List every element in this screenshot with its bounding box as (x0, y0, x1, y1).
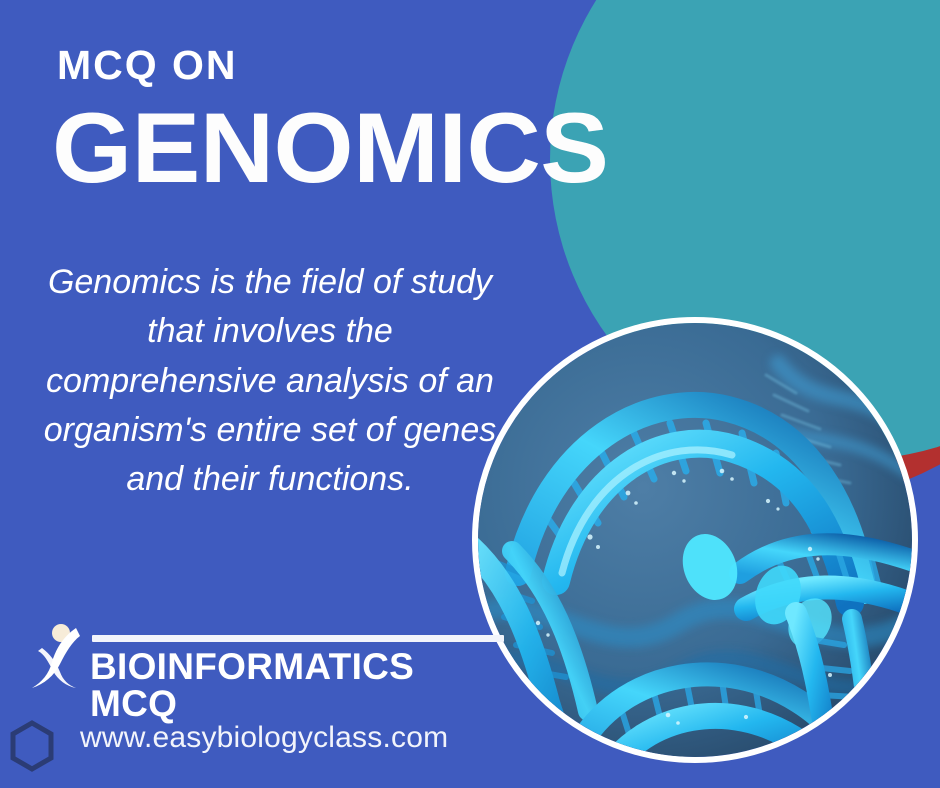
description-text: Genomics is the field of study that invo… (40, 258, 500, 504)
brand-block: BIOINFORMATICS MCQ (30, 620, 490, 692)
hexagon-outline-icon (4, 718, 60, 774)
dna-person-swoosh-icon (30, 622, 86, 690)
page-kicker: MCQ ON (57, 45, 238, 86)
dna-photo-circle (472, 317, 918, 763)
site-url-label: www.easybiologyclass.com (80, 723, 448, 753)
dna-double-helix-illustration (478, 323, 912, 757)
page-title: GENOMICS (52, 98, 608, 197)
poster-canvas: MCQ ON GENOMICS Genomics is the field of… (0, 0, 940, 788)
brand-name-label: BIOINFORMATICS MCQ (90, 648, 490, 722)
brand-divider-line (92, 635, 504, 642)
